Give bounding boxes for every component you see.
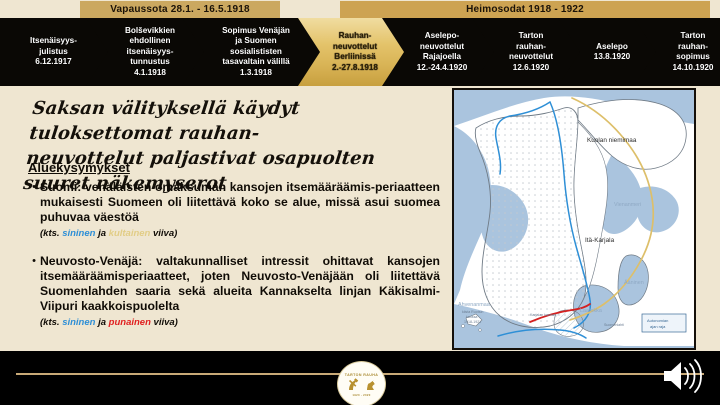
note-prefix: (kts. xyxy=(40,228,62,239)
timeline-item-line: Aselepo- xyxy=(417,31,468,42)
bullet-text-suomi: Suomi: venäläisten omaksuman kansojen it… xyxy=(40,180,440,225)
timeline-item-line: Rajajoella xyxy=(417,52,468,63)
emblem-years: 1920 - 2020 xyxy=(352,393,370,397)
note-color-word-red: punainen xyxy=(109,317,151,328)
map-label-kuolan-niemimaa: Kuolan niemimaa xyxy=(587,137,637,144)
timeline-item-line: tasavaltain välillä xyxy=(222,57,290,68)
timeline-item-line: neuvottelut xyxy=(417,42,468,53)
timeline-banner-heimosodat: Heimosodat 1918 - 1922 xyxy=(340,1,710,18)
bullet-marker: • xyxy=(28,180,40,240)
tarton-rauha-emblem: TARTON RAUHA 1920 - 2020 xyxy=(337,361,386,405)
speaker-volume-icon[interactable] xyxy=(660,357,706,395)
presentation-slide: Vapaussota 28.1. - 16.5.1918 Heimosodat … xyxy=(0,0,720,405)
bullet-text-neuvosto-venaja: Neuvosto-Venäjä: valtakunnalliset intres… xyxy=(40,254,440,314)
spacer xyxy=(28,244,440,254)
timeline-item-line: Rauhan- xyxy=(332,31,378,42)
map-legend: Autonomian ajan raja xyxy=(642,314,686,332)
heraldic-lion-icon xyxy=(364,378,377,392)
emblem-icons-row xyxy=(347,378,377,392)
speaker-glyph xyxy=(660,357,706,395)
timeline-item-line: Sopimus Venäjän xyxy=(222,26,290,37)
note-prefix: (kts. xyxy=(40,317,62,328)
note-suffix: viiva) xyxy=(151,317,178,328)
timeline-item-line: ehdollinen xyxy=(125,36,175,47)
slide-body: Aluekysymykset • Suomi: venäläisten omak… xyxy=(28,160,440,333)
timeline-item-date: 12.6.1920 xyxy=(509,63,553,74)
note-color-word-blue: sininen xyxy=(62,228,95,239)
list-item: • Suomi: venäläisten omaksuman kansojen … xyxy=(28,180,440,240)
map-label-suomenlahti: Suomenlahti xyxy=(604,323,624,327)
timeline-item-line: rauhan- xyxy=(673,42,714,53)
timeline-item-line: sopimus xyxy=(673,52,714,63)
map-graphic: Kuolan niemimaa Itä-Karjala Vienanmeri Ä… xyxy=(454,90,694,348)
map-label-vienanmeri: Vienanmeri xyxy=(614,202,641,208)
timeline-item-line: ja Suomen xyxy=(222,36,290,47)
timeline-item-line: tunnustus xyxy=(125,57,175,68)
note-join: ja xyxy=(95,317,108,328)
map-label-ahvenanmaa-sub2: kanssa xyxy=(466,315,477,319)
map-finland-karelia: Kuolan niemimaa Itä-Karjala Vienanmeri Ä… xyxy=(452,88,696,350)
note-color-word-gold: kultainen xyxy=(109,228,151,239)
timeline-item-line: Itsenäisyys- xyxy=(30,36,77,47)
timeline-item-line: neuvottelut xyxy=(332,42,378,53)
timeline-item-line: Berliinissä xyxy=(332,52,378,63)
timeline-chevron-strip: Itsenäisyys- julistus 6.12.1917 Bolševik… xyxy=(0,18,720,86)
section-subheading: Aluekysymykset xyxy=(28,160,440,175)
map-label-ita-karjala: Itä-Karjala xyxy=(585,237,615,244)
map-label-karjalan-kannas: Karjalan kannas xyxy=(530,313,556,317)
timeline-item-line: Aselepo xyxy=(594,42,630,53)
bullet-note-suomi: (kts. sininen ja kultainen viiva) xyxy=(40,227,440,240)
timeline-item-date: 13.8.1920 xyxy=(594,52,630,63)
timeline-banner-vapaussota: Vapaussota 28.1. - 16.5.1918 xyxy=(80,1,280,18)
timeline-item-line: Tarton xyxy=(509,31,553,42)
timeline-item-date: 1.3.1918 xyxy=(222,68,290,79)
map-label-ahvenanmaa: Ahvenanmaa xyxy=(458,302,490,308)
note-join: ja xyxy=(95,228,108,239)
map-legend-line-1: Autonomian xyxy=(647,318,668,323)
timeline-item-line: Bolševikkien xyxy=(125,26,175,37)
note-color-word-blue: sininen xyxy=(62,317,95,328)
list-item: • Neuvosto-Venäjä: valtakunnalliset intr… xyxy=(28,254,440,329)
emblem-title: TARTON RAUHA xyxy=(345,373,378,377)
timeline-item-date: 4.1.1918 xyxy=(125,68,175,79)
timeline-item-date: 2.-27.8.1918 xyxy=(332,63,378,74)
timeline-item-line: rauhan- xyxy=(509,42,553,53)
timeline-item-date: 6.12.1917 xyxy=(30,57,77,68)
timeline-item-date: 12.-24.4.1920 xyxy=(417,63,468,74)
bullet-note-neuvosto-venaja: (kts. sininen ja punainen viiva) xyxy=(40,316,440,329)
timeline-item-line: julistus xyxy=(30,47,77,58)
map-label-laatokka: Laatokka xyxy=(580,308,602,314)
timeline-item-line: itsenäisyys- xyxy=(125,47,175,58)
timeline-item-date: 14.10.1920 xyxy=(673,63,714,74)
map-label-ahvenanmaa-sub1: kiista Ruotsin xyxy=(462,310,483,314)
map-label-ahvenanmaa-sub3: 1918-1921 xyxy=(464,320,481,324)
timeline-item-line: neuvottelut xyxy=(509,52,553,63)
map-label-aaninen: Ääninen xyxy=(624,279,644,286)
hammer-sickle-icon xyxy=(347,378,360,392)
map-legend-line-2: ajan raja xyxy=(650,324,666,329)
bullet-marker: • xyxy=(28,254,40,329)
timeline-item-line: sosialististen xyxy=(222,47,290,58)
headline-line-1: Saksan välityksellä käydyt tuloksettomat… xyxy=(28,96,444,146)
timeline-item-line: Tarton xyxy=(673,31,714,42)
note-suffix: viiva) xyxy=(150,228,177,239)
